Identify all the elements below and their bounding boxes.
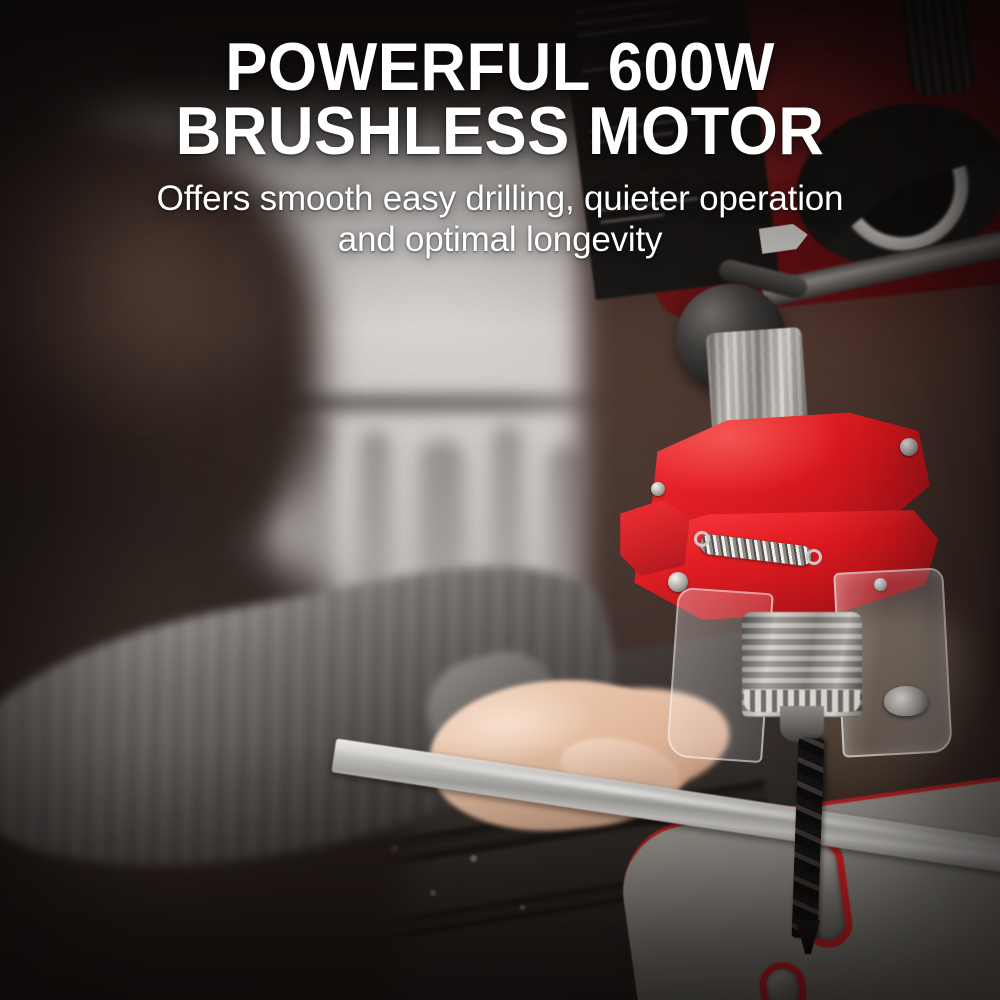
spring-hook [694, 531, 710, 547]
subheading-line-1: Offers smooth easy drilling, quieter ope… [157, 179, 844, 218]
product-feature-banner: POWERFUL 600W BRUSHLESS MOTOR Offers smo… [0, 0, 1000, 1000]
chuck-guard-bracket-tab [620, 500, 690, 576]
plate-text-line [574, 0, 693, 13]
marketing-copy: POWERFUL 600W BRUSHLESS MOTOR Offers smo… [0, 36, 1000, 260]
wing-screw[interactable] [884, 686, 928, 716]
subheading: Offers smooth easy drilling, quieter ope… [40, 178, 960, 261]
metal-shaving [520, 905, 525, 910]
headline-line-2: BRUSHLESS MOTOR [72, 100, 928, 164]
plate-text-line [576, 11, 672, 26]
metal-shaving [470, 855, 477, 862]
metal-shaving [430, 890, 436, 896]
bracket-screw [651, 482, 665, 496]
spring-hook [806, 549, 822, 565]
chuck-jaws [780, 706, 824, 742]
subheading-line-2: and optimal longevity [40, 219, 960, 260]
headline: POWERFUL 600W BRUSHLESS MOTOR [72, 36, 928, 164]
bracket-screw [900, 438, 918, 456]
